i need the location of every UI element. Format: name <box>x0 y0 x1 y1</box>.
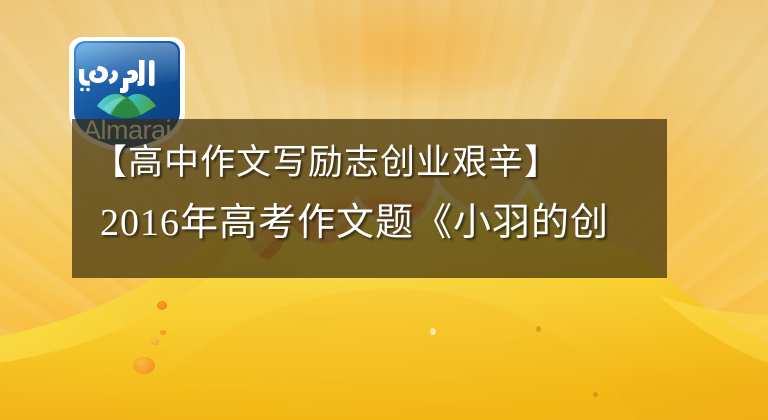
banner-image: Almarai 【高中作文写励志创业艰辛】 2016年高考作文题《小羽的创 <box>0 0 768 420</box>
caption-line-1: 【高中作文写励志创业艰辛】 <box>92 145 667 180</box>
caption-line-2: 2016年高考作文题《小羽的创 <box>100 204 667 242</box>
caption-overlay: 【高中作文写励志创业艰辛】 2016年高考作文题《小羽的创 <box>72 119 667 278</box>
